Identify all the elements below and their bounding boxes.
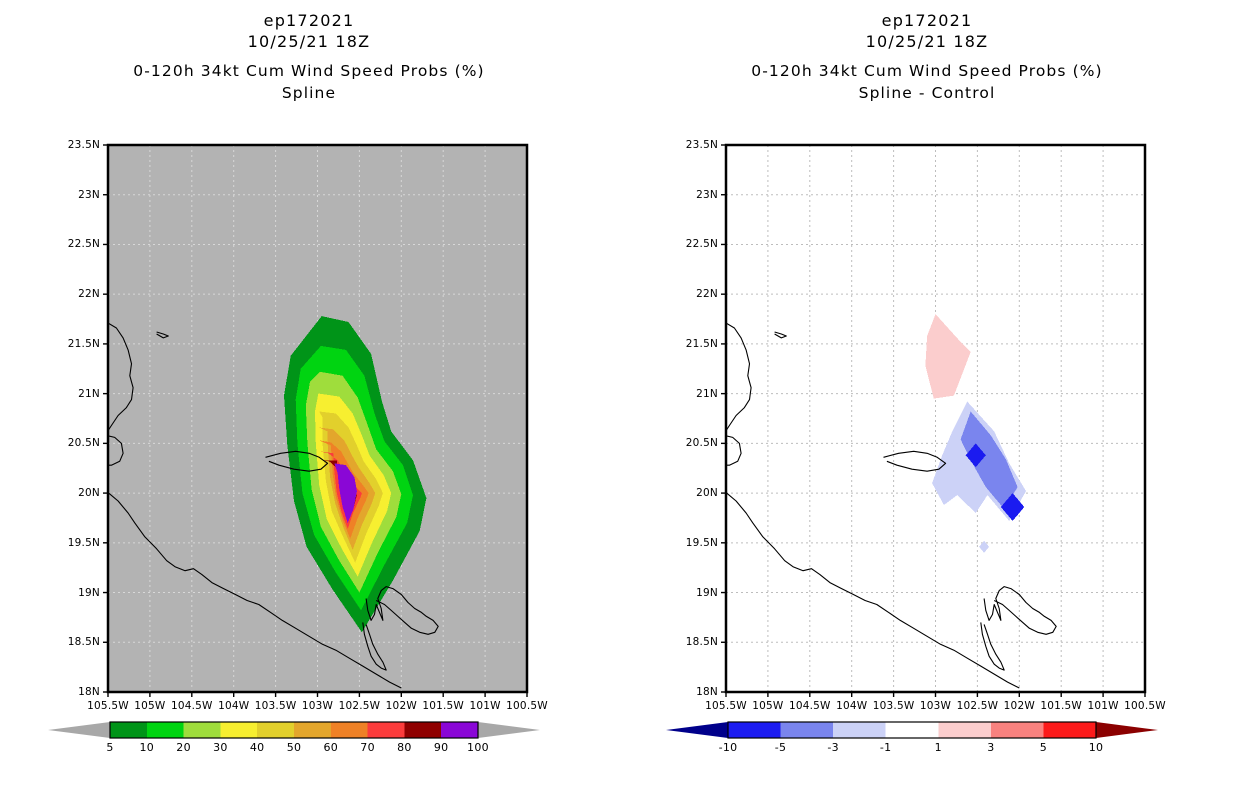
y-axis-label: 19N	[0, 587, 100, 599]
y-axis-label: 22N	[618, 288, 718, 300]
y-axis-label: 22.5N	[618, 238, 718, 250]
y-axis-label: 21.5N	[618, 338, 718, 350]
y-axis-label: 21.5N	[0, 338, 100, 350]
y-axis-label: 20.5N	[0, 437, 100, 449]
colorbar-label: 60	[323, 741, 338, 754]
contour-region-20	[306, 372, 402, 593]
coastline-mainland	[106, 491, 401, 688]
x-axis-label: 103W	[302, 700, 333, 712]
y-axis-label: 20N	[0, 487, 100, 499]
coastline-small_island	[157, 332, 169, 338]
contour-region--1	[932, 402, 1026, 521]
panel-spline-minus-control: ep17202110/25/21 18Z0-120h 34kt Cum Wind…	[618, 0, 1236, 800]
map-plot-area	[618, 0, 1236, 800]
plot-frame	[108, 145, 527, 692]
contour-region--1	[979, 541, 989, 553]
coastline-se_coast	[366, 587, 438, 635]
coastline-baja_east	[106, 322, 133, 433]
title-spacer	[0, 52, 618, 60]
y-axis-label: 22N	[0, 288, 100, 300]
x-axis-label: 103.5W	[873, 700, 915, 712]
colorbar-segment-6	[1043, 722, 1096, 738]
coastline-baja_bay	[724, 435, 741, 465]
x-axis-label: 102.5W	[339, 700, 381, 712]
x-axis-label: 104.5W	[789, 700, 831, 712]
x-axis-label: 101.5W	[422, 700, 464, 712]
y-axis-label: 19.5N	[0, 537, 100, 549]
colorbar-segment-1	[781, 722, 834, 738]
colorbar-segment-8	[404, 722, 441, 738]
colorbar-segment-5	[294, 722, 331, 738]
coastline-small_island	[775, 332, 787, 338]
coastline-baja_bay	[106, 435, 123, 465]
product-title: 0-120h 34kt Cum Wind Speed Probs (%)	[0, 60, 618, 82]
colorbar-label: 10	[1089, 741, 1104, 754]
x-axis-label: 105.5W	[87, 700, 129, 712]
panel-titles: ep17202110/25/21 18Z0-120h 34kt Cum Wind…	[0, 10, 618, 104]
x-axis-label: 102.5W	[957, 700, 999, 712]
plot-frame	[726, 145, 1145, 692]
coastline-se_coast2	[981, 622, 1004, 670]
datetime-title: 10/25/21 18Z	[0, 31, 618, 52]
x-axis-label: 100.5W	[506, 700, 548, 712]
y-axis-label: 21N	[618, 388, 718, 400]
y-axis-label: 21N	[0, 388, 100, 400]
colorbar-label: -5	[775, 741, 787, 754]
product-title: 0-120h 34kt Cum Wind Speed Probs (%)	[618, 60, 1236, 82]
colorbar-segment-3	[220, 722, 257, 738]
x-axis-label: 104W	[836, 700, 867, 712]
colorbar-label: 5	[106, 741, 113, 754]
colorbar-segment-3	[886, 722, 939, 738]
contour-region-90	[334, 463, 357, 523]
colorbar-label: -10	[719, 741, 738, 754]
colorbar-segment-4	[938, 722, 991, 738]
y-axis-label: 18N	[618, 686, 718, 698]
contour-region--5	[961, 412, 1018, 510]
coastline-se_coast2	[363, 622, 386, 670]
colorbar-cap-low	[48, 722, 110, 738]
contour-region--10	[1001, 493, 1024, 521]
variant-title: Spline - Control	[618, 82, 1236, 104]
colorbar-segment-2	[833, 722, 886, 738]
axis-ticks	[103, 145, 527, 697]
colorbar-label: 10	[139, 741, 154, 754]
colorbar-segment-0	[110, 722, 147, 738]
storm-id-title: ep172021	[0, 10, 618, 31]
contour-region-10	[296, 346, 413, 611]
colorbar-label: 100	[467, 741, 489, 754]
colorbar-segment-6	[331, 722, 368, 738]
colorbar-label: 90	[434, 741, 449, 754]
x-axis-label: 104.5W	[171, 700, 213, 712]
contour-region-80	[319, 460, 357, 519]
x-axis-label: 101W	[1087, 700, 1118, 712]
contour-region-5	[284, 316, 426, 632]
coastlines	[106, 322, 438, 688]
x-axis-label: 102W	[1004, 700, 1035, 712]
colorbar-label: 70	[360, 741, 375, 754]
colorbar-segment-9	[441, 722, 478, 738]
colorbar-label: 3	[987, 741, 994, 754]
storm-id-title: ep172021	[618, 10, 1236, 31]
colorbar-probability	[0, 716, 618, 786]
colorbar-label: 20	[176, 741, 191, 754]
variant-title: Spline	[0, 82, 618, 104]
colorbar-label: 40	[250, 741, 265, 754]
y-axis-label: 23N	[0, 189, 100, 201]
colorbar-segment-7	[368, 722, 405, 738]
contour-region--10	[966, 443, 986, 467]
coastline-long_island	[884, 451, 946, 471]
colorbar-segment-0	[728, 722, 781, 738]
x-axis-label: 103W	[920, 700, 951, 712]
axis-ticks	[721, 145, 1145, 697]
plot-background	[108, 145, 527, 692]
gridlines	[726, 145, 1145, 692]
y-axis-label: 20.5N	[618, 437, 718, 449]
panel-spline: ep17202110/25/21 18Z0-120h 34kt Cum Wind…	[0, 0, 618, 800]
colorbar-label: 30	[213, 741, 228, 754]
contour-region-30	[315, 394, 391, 577]
y-axis-label: 23.5N	[618, 139, 718, 151]
colorbar-segment-5	[991, 722, 1044, 738]
contour-region-70	[319, 451, 362, 529]
y-axis-label: 20N	[618, 487, 718, 499]
coastline-se_coast	[984, 587, 1056, 635]
colorbar-cap-high	[478, 722, 540, 738]
y-axis-label: 19.5N	[618, 537, 718, 549]
colorbar-cap-low	[666, 722, 728, 738]
x-axis-label: 103.5W	[255, 700, 297, 712]
colorbar-label: 1	[935, 741, 942, 754]
x-axis-label: 105W	[134, 700, 165, 712]
coastline-baja_east	[724, 322, 751, 433]
colorbar-segment-2	[184, 722, 221, 738]
y-axis-label: 23.5N	[0, 139, 100, 151]
y-axis-label: 19N	[618, 587, 718, 599]
x-axis-label: 105W	[752, 700, 783, 712]
y-axis-label: 22.5N	[0, 238, 100, 250]
contour-regions	[925, 314, 1026, 553]
datetime-title: 10/25/21 18Z	[618, 31, 1236, 52]
colorbar-label: 50	[287, 741, 302, 754]
colorbar-label: -1	[880, 741, 892, 754]
x-axis-label: 101.5W	[1040, 700, 1082, 712]
x-axis-label: 100.5W	[1124, 700, 1166, 712]
y-axis-label: 18.5N	[618, 636, 718, 648]
contour-region-40	[319, 412, 383, 563]
colorbar-segment-4	[257, 722, 294, 738]
y-axis-label: 23N	[618, 189, 718, 201]
colorbar-label: 80	[397, 741, 412, 754]
title-spacer	[618, 52, 1236, 60]
colorbar-cap-high	[1096, 722, 1158, 738]
colorbar-label: 5	[1040, 741, 1047, 754]
colorbar-label: -3	[827, 741, 839, 754]
colorbar-difference	[618, 716, 1236, 786]
y-axis-label: 18N	[0, 686, 100, 698]
plot-background	[726, 145, 1145, 692]
coastline-mainland	[724, 491, 1019, 688]
contour-region-60	[319, 440, 368, 538]
y-axis-label: 18.5N	[0, 636, 100, 648]
panel-titles: ep17202110/25/21 18Z0-120h 34kt Cum Wind…	[618, 10, 1236, 104]
x-axis-label: 104W	[218, 700, 249, 712]
coastline-long_island	[266, 451, 328, 471]
contour-region-3	[925, 314, 970, 399]
x-axis-label: 105.5W	[705, 700, 747, 712]
map-plot-area	[0, 0, 618, 800]
x-axis-label: 101W	[469, 700, 500, 712]
contour-regions	[284, 316, 426, 632]
colorbar-segment-1	[147, 722, 184, 738]
coastlines	[724, 322, 1056, 688]
x-axis-label: 102W	[386, 700, 417, 712]
gridlines	[108, 145, 527, 692]
contour-region-50	[319, 428, 375, 550]
